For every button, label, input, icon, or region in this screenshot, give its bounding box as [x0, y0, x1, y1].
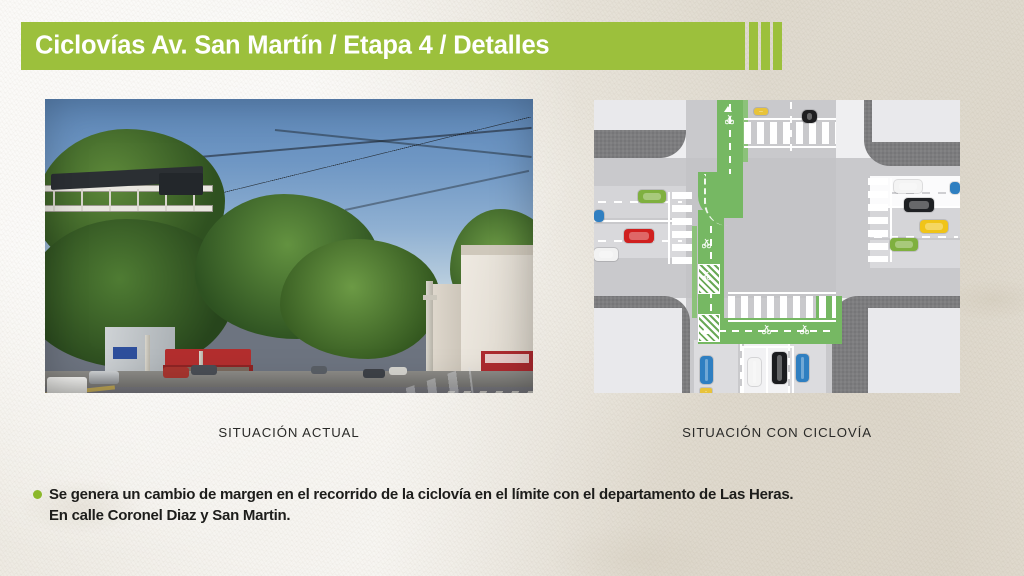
plan-car-white-bottom: [748, 358, 761, 386]
street-photo-actual: [45, 99, 533, 393]
plan-car-black-bottom: [772, 352, 787, 384]
bicycle-pictogram-icon: [702, 268, 711, 281]
plan-car-blue-bottom: [796, 354, 809, 382]
crosswalk-edge-line: [744, 146, 836, 148]
plan-car-black-right: [904, 198, 934, 212]
plan-car-green-left: [638, 190, 666, 203]
plan-car-red-left: [624, 229, 654, 243]
plan-car-blue-left: [594, 210, 604, 222]
chevron-stripe-icon: [749, 22, 758, 70]
bullet-block: Se genera un cambio de margen en el reco…: [33, 484, 983, 526]
caption-situacion-ciclovia: SITUACIÓN CON CICLOVÍA: [594, 425, 960, 440]
bicycle-pictogram-icon: [702, 236, 711, 249]
plan-car-yellow-top: [754, 108, 768, 115]
bullet-text: Se genera un cambio de margen en el reco…: [49, 484, 793, 526]
plan-car-white-left: [594, 248, 618, 261]
crosswalk-edge-line: [728, 320, 836, 322]
bullet-dot-icon: [33, 490, 42, 499]
bicycle-pictogram-icon: [762, 322, 771, 335]
header-bar: Ciclovías Av. San Martín / Etapa 4 / Det…: [21, 22, 745, 70]
direction-arrow-icon: [701, 328, 709, 334]
plan-car-black-top: [802, 110, 817, 123]
plan-car-white-right: [894, 180, 922, 193]
bicycle-pictogram-icon: [800, 322, 809, 335]
building-block-bottom-right: [868, 308, 960, 393]
slide-canvas: Ciclovías Av. San Martín / Etapa 4 / Det…: [0, 0, 1024, 576]
plan-car-blue-right: [950, 182, 960, 194]
bullet-line-1: Se genera un cambio de margen en el reco…: [49, 486, 793, 503]
intersection-plan-ciclovia: [594, 100, 960, 393]
crosswalk-edge-line: [668, 192, 670, 264]
chevron-stripe-icon: [773, 22, 782, 70]
crosswalk-top: [744, 122, 836, 144]
plan-car-blue-bottom: [700, 356, 713, 384]
parking-bay-line: [766, 346, 768, 393]
bullet-line-2: En calle Coronel Diaz y San Martin.: [49, 505, 793, 526]
crosswalk-left: [672, 192, 692, 264]
parking-bay-line: [742, 346, 794, 348]
lane-dashed-line: [788, 344, 790, 393]
crosswalk-bottom: [728, 296, 836, 318]
chevron-stripe-icon: [761, 22, 770, 70]
crosswalk-edge-line: [728, 292, 836, 294]
bike-lane-separator: [692, 226, 697, 318]
photo-vignette: [45, 99, 533, 393]
parking-bay-line: [742, 346, 744, 393]
caption-situacion-actual: SITUACIÓN ACTUAL: [45, 425, 533, 440]
building-block-top-right: [872, 100, 960, 142]
parking-bay-line: [792, 346, 794, 393]
building-block-bottom-left: [594, 308, 682, 393]
crosswalk-edge-line: [744, 118, 836, 120]
plan-car-yellow-bottom: [700, 388, 712, 393]
plan-car-green-right: [890, 238, 918, 251]
building-block-top-left: [594, 100, 686, 130]
plan-car-yellow-right: [920, 220, 948, 233]
crosswalk-right: [868, 178, 888, 262]
bicycle-pictogram-icon: [725, 112, 734, 125]
page-title: Ciclovías Av. San Martín / Etapa 4 / Det…: [35, 32, 549, 61]
